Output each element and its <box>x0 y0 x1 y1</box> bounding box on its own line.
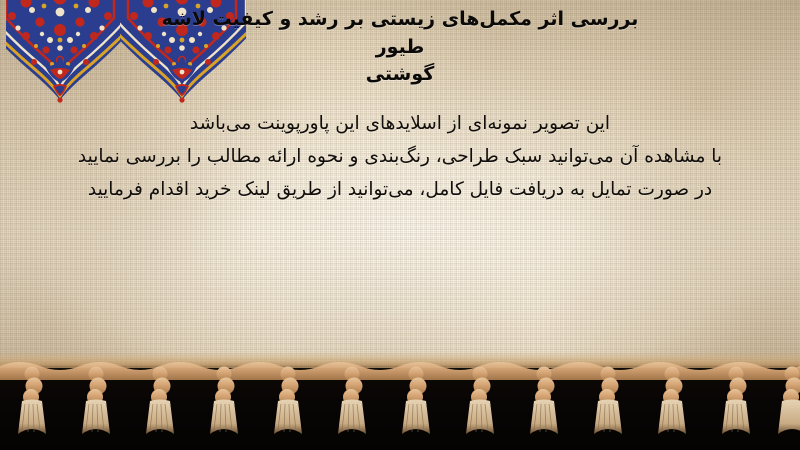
slide-title-line-2: گوشتی <box>150 61 650 89</box>
body-line-1: این تصویر نمونه‌ای از اسلایدهای این پاور… <box>26 108 774 141</box>
body-line-3: در صورت تمایل به دریافت فایل کامل، می‌تو… <box>26 174 774 207</box>
slide-body-text: این تصویر نمونه‌ای از اسلایدهای این پاور… <box>0 108 800 207</box>
body-line-2: با مشاهده آن می‌توانید سبک طراحی، رنگ‌بن… <box>26 141 774 174</box>
carpet-fringe-tassels <box>0 350 800 450</box>
presentation-slide: بررسی اثر مکمل‌های زیستی بر رشد و کیفیت … <box>0 0 800 450</box>
slide-title: بررسی اثر مکمل‌های زیستی بر رشد و کیفیت … <box>0 6 800 89</box>
slide-title-line-1: بررسی اثر مکمل‌های زیستی بر رشد و کیفیت … <box>162 8 639 58</box>
